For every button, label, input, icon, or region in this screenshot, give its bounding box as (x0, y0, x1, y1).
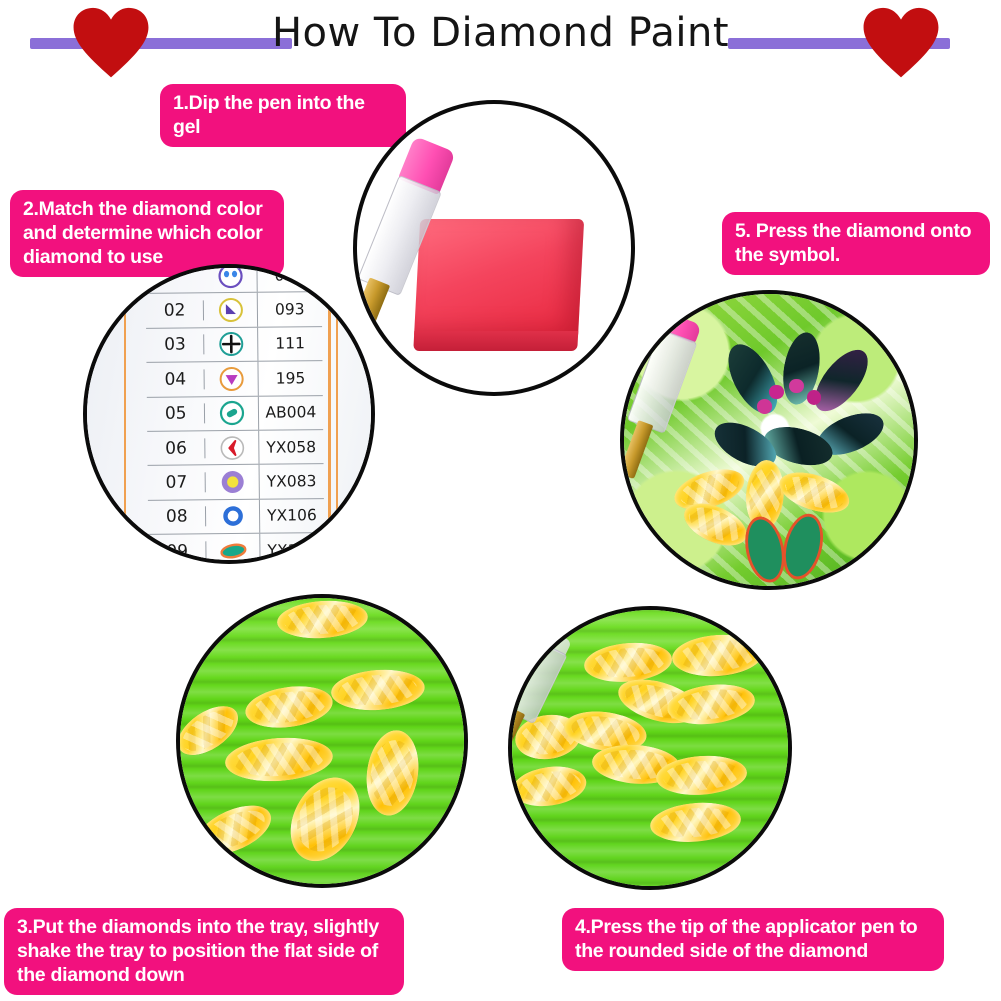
pickup-scene (512, 610, 788, 886)
step-3-caption: 3.Put the diamonds into the tray, slight… (4, 908, 404, 995)
infographic-root: How To Diamond Paint 1.Dip the pen into … (0, 0, 1001, 1001)
tray-scene (180, 598, 464, 884)
chart-cell-code: 093 (257, 300, 322, 319)
chart-cell-number (145, 276, 203, 277)
step-4-image (508, 606, 792, 890)
color-chart-row: 028 (145, 264, 321, 295)
gel-pad (414, 219, 585, 340)
chart-cell-number: 07 (147, 473, 206, 494)
accent-dot (789, 379, 804, 394)
color-chart-row: 06YX058 (147, 430, 323, 466)
chart-margin-line-left (124, 264, 126, 564)
chart-cell-code: YX058 (259, 438, 324, 457)
step-5-caption: 5. Press the diamond onto the symbol. (722, 212, 990, 275)
chart-cell-number: 05 (147, 404, 206, 425)
accent-dot (807, 390, 822, 405)
step-5-image (620, 290, 918, 590)
chart-cell-code: 195 (258, 369, 323, 388)
chart-cell-code: 028 (257, 266, 322, 285)
chart-cell-code: YX125 (260, 541, 325, 560)
color-chart-row: 07YX083 (147, 465, 323, 501)
chart-cell-number: 02 (145, 301, 204, 322)
chart-cell-number: 04 (146, 369, 205, 390)
chart-cell-symbol-icon (206, 465, 260, 499)
color-chart-row: 03111 (146, 327, 322, 363)
chart-cell-code: 111 (257, 335, 322, 354)
chart-margin-line-right2 (336, 264, 338, 564)
chart-cell-symbol-icon (206, 500, 260, 534)
chart-cell-symbol-icon (204, 293, 258, 327)
chart-photo: 02802093031110419505AB00406YX05807YX0830… (87, 268, 371, 560)
page-title: How To Diamond Paint (0, 10, 1001, 56)
chart-margin-line-right (328, 264, 330, 564)
color-chart-row: 08YX106 (148, 499, 324, 535)
chart-cell-number: 09 (148, 541, 207, 562)
accent-dot (757, 399, 772, 414)
step-2-image: 02802093031110419505AB00406YX05807YX0830… (83, 264, 375, 564)
chart-cell-number: 06 (147, 438, 206, 459)
chart-cell-code: YX106 (259, 507, 324, 526)
step-1-image (353, 100, 635, 396)
chart-cell-code: YX083 (259, 472, 324, 491)
color-chart-row: 09YX125 (148, 533, 324, 564)
chart-cell-code: AB004 (258, 404, 323, 423)
step-4-caption: 4.Press the tip of the applicator pen to… (562, 908, 944, 971)
chart-cell-symbol-icon (203, 264, 257, 293)
chart-cell-symbol-icon (205, 431, 259, 465)
color-chart-row: 02093 (145, 293, 321, 329)
canvas-scene (624, 294, 914, 586)
chart-cell-symbol-icon (205, 397, 259, 431)
accent-dot (769, 385, 784, 400)
chart-cell-symbol-icon (206, 534, 260, 564)
color-code-table: 02802093031110419505AB00406YX05807YX0830… (145, 264, 324, 564)
chart-cell-symbol-icon (205, 362, 259, 396)
step-3-image (176, 594, 468, 888)
color-chart-row: 05AB004 (146, 396, 322, 432)
chart-cell-symbol-icon (204, 328, 258, 362)
chart-cell-number: 08 (148, 507, 207, 528)
chart-cell-number: 03 (146, 335, 205, 356)
color-chart-row: 04195 (146, 362, 322, 398)
gel-scene (357, 104, 631, 392)
